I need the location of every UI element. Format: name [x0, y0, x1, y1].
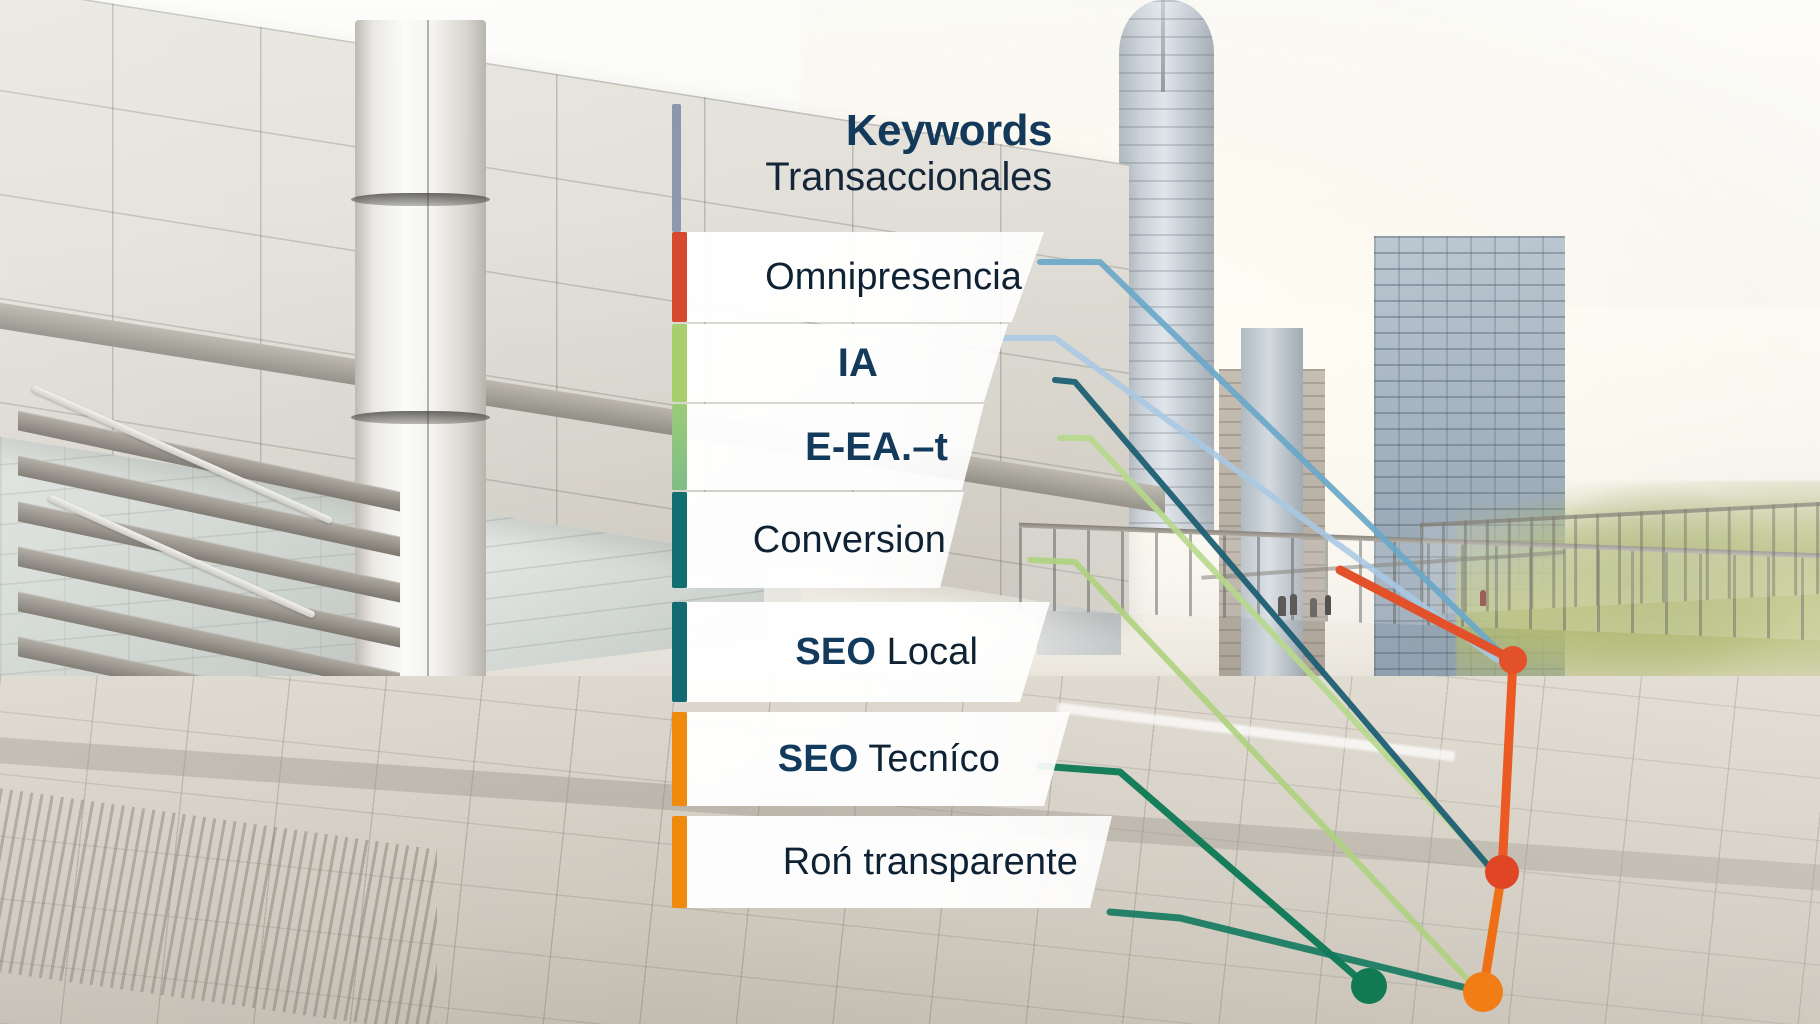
row-label-seo-local-rest: Local: [876, 631, 978, 673]
row-label-conversion: Conversion: [672, 519, 964, 562]
node-mid: [1485, 855, 1519, 889]
row-label-ia: IA: [672, 341, 1008, 386]
infographic-stage: Keywords Transaccionales Omnipresencia I…: [0, 0, 1820, 1024]
funnel-header: Keywords Transaccionales: [672, 104, 1052, 232]
node-spine-upper: [1502, 660, 1513, 872]
header-accent-bar: [672, 104, 681, 232]
header-subtitle: Transaccionales: [696, 155, 1052, 200]
row-label-eeat: E-EA.–t: [672, 425, 984, 470]
funnel-row-roi[interactable]: Roń transparente: [672, 816, 1112, 908]
node-green: [1351, 968, 1387, 1004]
funnel-row-ia[interactable]: IA: [672, 324, 1008, 402]
row-label-seo-tecnico: SEO Tecníco: [672, 738, 1070, 781]
funnel-panel: Keywords Transaccionales Omnipresencia I…: [672, 104, 1292, 964]
row-label-seo-tecnico-rest: Tecníco: [858, 738, 1000, 780]
row-label-roi: Roń transparente: [672, 841, 1112, 884]
funnel-row-seo-local[interactable]: SEO Local: [672, 602, 1050, 702]
row-label-seo-local-bold: SEO: [795, 631, 876, 673]
row-label-seo-tecnico-bold: SEO: [778, 738, 859, 780]
row-label-omnipresencia: Omnipresencia: [672, 256, 1044, 299]
row-label-seo-local: SEO Local: [672, 631, 1050, 674]
header-title: Keywords: [696, 108, 1052, 155]
funnel-row-omnipresencia[interactable]: Omnipresencia: [672, 232, 1044, 322]
node-lower: [1463, 972, 1503, 1012]
funnel-row-seo-tecnico[interactable]: SEO Tecníco: [672, 712, 1070, 806]
funnel-row-conversion[interactable]: Conversion: [672, 492, 964, 588]
node-upper: [1499, 646, 1527, 674]
funnel-row-eeat[interactable]: E-EA.–t: [672, 404, 984, 490]
